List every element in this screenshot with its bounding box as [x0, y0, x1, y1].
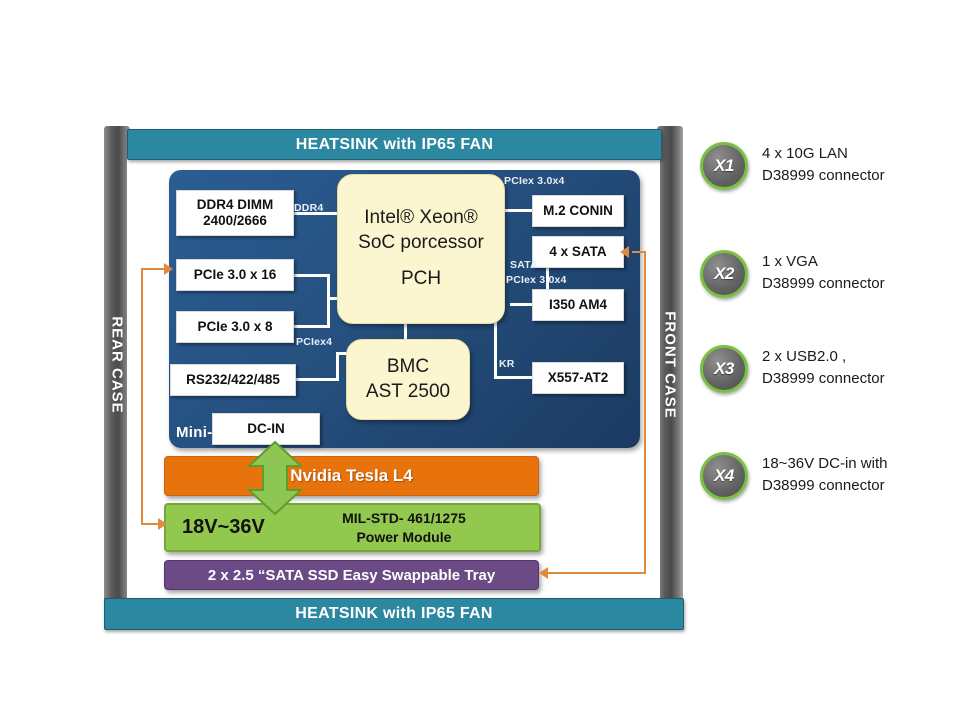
route-left-top-arrowhead	[164, 263, 173, 275]
block-i350-am4: I350 AM4	[532, 289, 624, 321]
block-pcie-x8: PCIe 3.0 x 8	[176, 311, 294, 343]
badge-x4: X4	[700, 452, 748, 500]
route-left-vertical	[141, 268, 143, 525]
module-ssd-tray: 2 x 2.5 “SATA SSD Easy Swappable Tray	[164, 560, 539, 590]
badge-x3-label: X3	[714, 359, 734, 379]
route-right-top-arrowhead	[620, 246, 629, 258]
trace-pcie-v	[327, 274, 330, 328]
bmc-line-1: BMC	[387, 355, 429, 380]
block-x557-at2: X557-AT2	[532, 362, 624, 394]
bus-label-pcie-top: PCIex 3.0x4	[504, 175, 565, 187]
module-power: 18V~36V MIL-STD- 461/1275 Power Module	[164, 503, 541, 552]
block-rs232: RS232/422/485	[170, 364, 296, 396]
badge-x2-label: X2	[714, 264, 734, 284]
heatsink-bottom: HEATSINK with IP65 FAN	[104, 598, 684, 630]
badge-x2: X2	[700, 250, 748, 298]
bmc-line-2: AST 2500	[366, 380, 450, 405]
legend-item-x4[interactable]: X4 18~36V DC-in with D38999 connector	[700, 452, 887, 500]
front-case-label: FRONT CASE	[662, 311, 679, 419]
trace-rs232-h	[295, 378, 339, 381]
legend-x1-text: 4 x 10G LAN D38999 connector	[762, 142, 885, 187]
bus-label-sata: SATA	[510, 259, 538, 271]
bus-label-pciex4: PCIex4	[296, 336, 332, 348]
module-gpu: Nvidia Tesla L4	[164, 456, 539, 496]
route-right-bottom	[548, 572, 646, 574]
legend-x2-text: 1 x VGA D38999 connector	[762, 250, 885, 295]
chip-line-3: PCH	[401, 267, 441, 292]
power-gpu-double-arrow	[243, 440, 307, 516]
route-right-vertical	[644, 251, 646, 574]
badge-x1: X1	[700, 142, 748, 190]
badge-x4-label: X4	[714, 466, 734, 486]
legend-item-x1[interactable]: X1 4 x 10G LAN D38999 connector	[700, 142, 885, 190]
badge-x1-label: X1	[714, 156, 734, 176]
trace-rs232-v	[336, 352, 339, 381]
trace-pcie8-h	[292, 325, 330, 328]
power-voltage-label: 18V~36V	[182, 516, 265, 539]
bus-label-kr: KR	[499, 358, 515, 370]
bus-label-pcie-mid: PCIex 3.0x4	[506, 274, 567, 286]
legend-x3-text: 2 x USB2.0 , D38999 connector	[762, 345, 885, 390]
legend-item-x3[interactable]: X3 2 x USB2.0 , D38999 connector	[700, 345, 885, 393]
chip-bmc: BMC AST 2500	[346, 339, 470, 420]
chip-line-2: SoC porcessor	[358, 231, 484, 256]
heatsink-top: HEATSINK with IP65 FAN	[127, 129, 662, 160]
trace-pcie16-h	[292, 274, 330, 277]
front-case-bar: FRONT CASE	[657, 126, 683, 604]
badge-x3: X3	[700, 345, 748, 393]
block-pcie-x16: PCIe 3.0 x 16	[176, 259, 294, 291]
route-right-bottom-arrowhead	[539, 567, 548, 579]
power-title-label: MIL-STD- 461/1275 Power Module	[269, 509, 539, 545]
bus-label-ddr4: DDR4	[294, 202, 323, 214]
block-m2-conin: M.2 CONIN	[532, 195, 624, 227]
route-left-bottom-arrowhead	[158, 518, 167, 530]
chip-xeon-soc: Intel® Xeon® SoC porcessor PCH	[337, 174, 505, 324]
block-ddr4-dimm: DDR4 DIMM 2400/2666	[176, 190, 294, 236]
legend-x4-text: 18~36V DC-in with D38999 connector	[762, 452, 887, 497]
diagram-canvas: REAR CASE FRONT CASE HEATSINK with IP65 …	[0, 0, 960, 720]
block-4x-sata: 4 x SATA	[532, 236, 624, 268]
rear-case-label: REAR CASE	[109, 316, 126, 413]
legend-item-x2[interactable]: X2 1 x VGA D38999 connector	[700, 250, 885, 298]
chip-line-1: Intel® Xeon®	[364, 206, 478, 231]
